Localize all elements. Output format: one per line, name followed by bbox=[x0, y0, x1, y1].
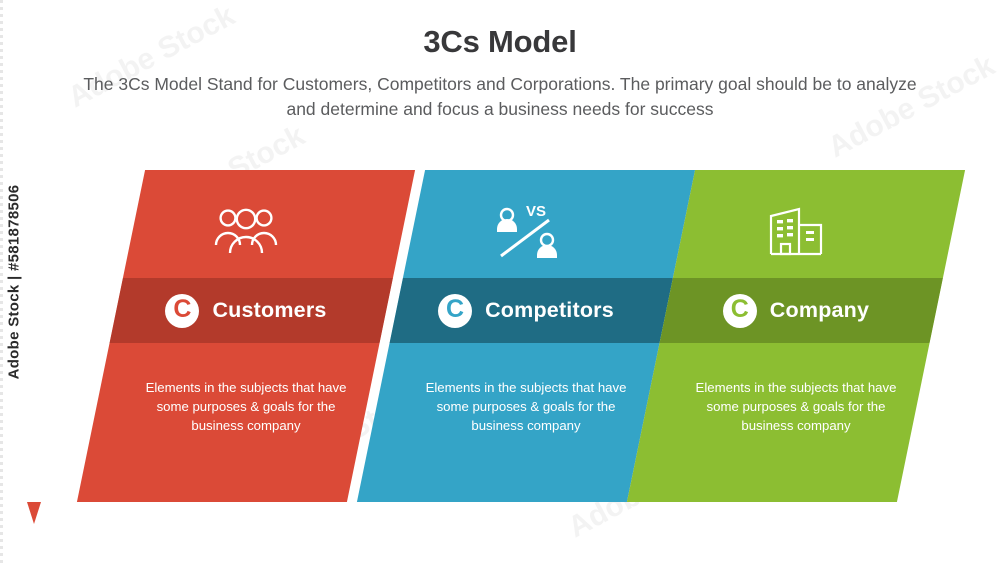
c-badge-letter: C bbox=[173, 297, 191, 322]
c-badge-icon: C bbox=[165, 294, 199, 328]
card-company-label: Company bbox=[770, 298, 869, 323]
office-building-icon bbox=[661, 196, 931, 266]
card-customers-description: Elements in the subjects that have some … bbox=[111, 378, 381, 435]
adobe-stock-watermark: Adobe Stock | #581878506 bbox=[6, 184, 23, 379]
card-company-content: C Company Elements in the subjects that … bbox=[661, 170, 931, 502]
c-badge-icon: C bbox=[438, 294, 472, 328]
card-customers[interactable]: C Customers Elements in the subjects tha… bbox=[77, 170, 415, 502]
slide-canvas: Adobe Stock Adobe Stock Adobe Stock Adob… bbox=[0, 0, 1000, 563]
c-badge-letter: C bbox=[446, 297, 464, 322]
page-subtitle: The 3Cs Model Stand for Customers, Compe… bbox=[80, 72, 920, 122]
card-competitors-description: Elements in the subjects that have some … bbox=[391, 378, 661, 435]
person-vs-person-icon: VS bbox=[391, 196, 661, 266]
cards-container: C Customers Elements in the subjects tha… bbox=[0, 170, 1000, 502]
header: 3Cs Model The 3Cs Model Stand for Custom… bbox=[0, 22, 1000, 122]
card-customers-label-row: C Customers bbox=[111, 278, 381, 343]
users-group-icon bbox=[111, 196, 381, 266]
c-badge-letter: C bbox=[731, 297, 749, 322]
card-competitors-label: Competitors bbox=[485, 298, 614, 323]
card-competitors-label-row: C Competitors bbox=[391, 278, 661, 343]
card-company-label-row: C Company bbox=[661, 278, 931, 343]
card-competitors-content: VS C Competitors Elements in the subject… bbox=[391, 170, 661, 502]
page-title: 3Cs Model bbox=[0, 22, 1000, 62]
left-edge-dots bbox=[0, 0, 3, 563]
svg-text:VS: VS bbox=[526, 203, 546, 220]
card-customers-content: C Customers Elements in the subjects tha… bbox=[111, 170, 381, 502]
c-badge-icon: C bbox=[723, 294, 757, 328]
card-customers-label: Customers bbox=[212, 298, 326, 323]
watermark-marker-icon bbox=[27, 502, 41, 524]
card-company-description: Elements in the subjects that have some … bbox=[661, 378, 931, 435]
